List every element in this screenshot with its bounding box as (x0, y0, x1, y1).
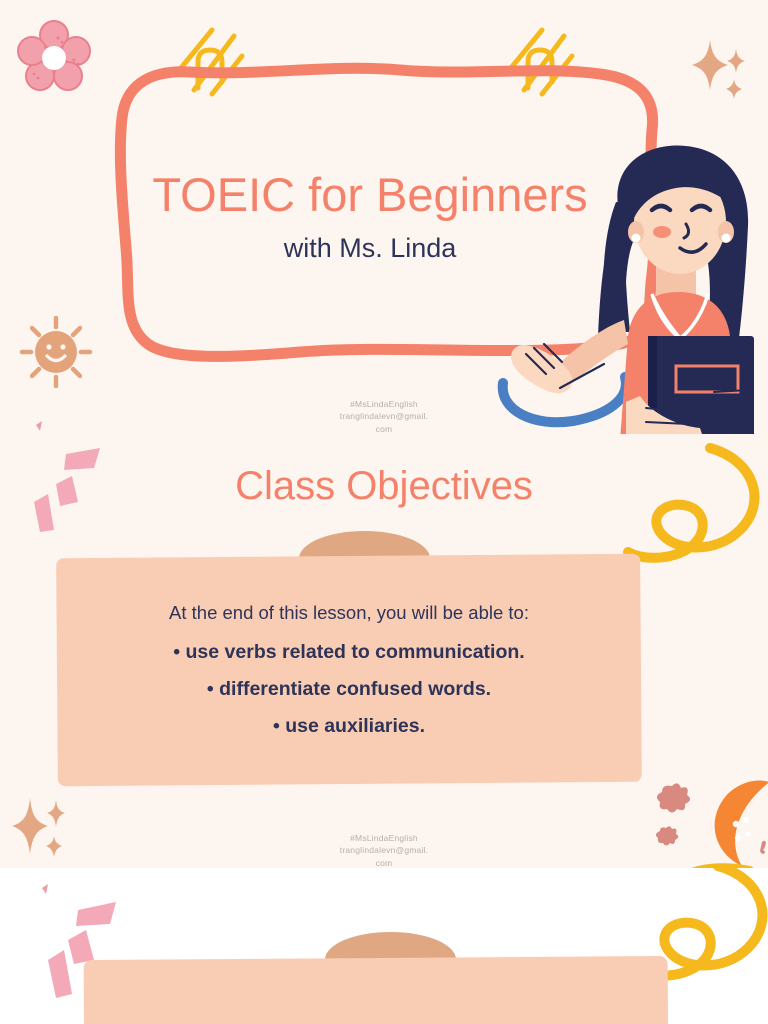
credit-line-2: tranglindalevn@gmail. (274, 410, 494, 422)
objectives-intro: At the end of this lesson, you will be a… (79, 602, 619, 624)
title-block: TOEIC for Beginners with Ms. Linda (110, 170, 630, 264)
crescent-moon-icon (658, 780, 768, 868)
presentation-deck: TOEIC for Beginners with Ms. Linda (0, 0, 768, 1024)
section-heading: Class Objectives (0, 464, 768, 509)
objectives-content: At the end of this lesson, you will be a… (57, 556, 641, 784)
slide-title: TOEIC for Beginners with Ms. Linda (0, 0, 768, 434)
credit-line-3: com (274, 857, 494, 868)
credit-line-1: #MsLindaEnglish (274, 832, 494, 844)
sun-icon (14, 310, 98, 394)
objective-item-3: • use auxiliaries. (79, 715, 619, 738)
objectives-card-next (84, 956, 669, 1024)
petals-icon (26, 415, 136, 434)
flower-icon (14, 16, 94, 96)
page-subtitle: with Ms. Linda (110, 233, 630, 264)
page-title: TOEIC for Beginners (110, 170, 630, 219)
sparkles-icon (690, 35, 750, 105)
credit-line-2: tranglindalevn@gmail. (274, 844, 494, 856)
credit-block: #MsLindaEnglish tranglindalevn@gmail. co… (274, 832, 494, 868)
sparkles-icon (12, 792, 82, 862)
credit-block: #MsLindaEnglish tranglindalevn@gmail. co… (274, 398, 494, 434)
objective-item-2: • differentiate confused words. (79, 678, 619, 701)
objective-item-1: • use verbs related to communication. (79, 641, 619, 664)
credit-line-3: com (274, 423, 494, 434)
credit-line-1: #MsLindaEnglish (274, 398, 494, 410)
